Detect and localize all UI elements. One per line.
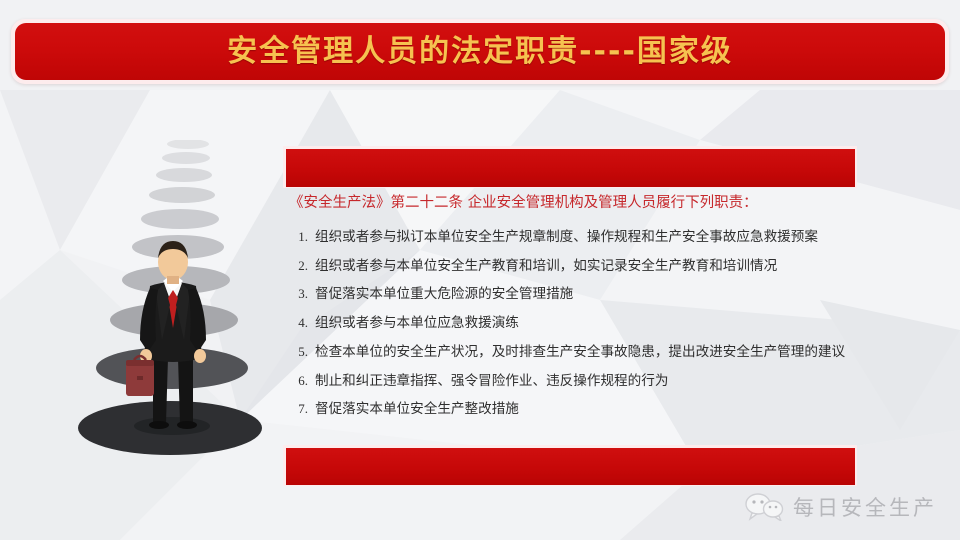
list-item-number: 7. (290, 400, 308, 419)
top-accent-bar (286, 149, 855, 187)
list-item-number: 1. (290, 228, 308, 247)
list-item: 3. 督促落实本单位重大危险源的安全管理措施 (287, 285, 867, 305)
list-item-number: 3. (290, 285, 308, 304)
list-item: 6. 制止和纠正违章指挥、强令冒险作业、违反操作规程的行为 (287, 372, 867, 392)
bottom-accent-bar (286, 448, 855, 485)
slide-canvas: 安全管理人员的法定职责----国家级 (0, 0, 960, 540)
list-item-number: 2. (290, 257, 308, 276)
list-item: 7. 督促落实本单位安全生产整改措施 (287, 400, 867, 420)
list-item: 4. 组织或者参与本单位应急救援演练 (287, 314, 867, 334)
list-item: 5. 检查本单位的安全生产状况，及时排查生产安全事故隐患，提出改进安全生产管理的… (287, 343, 867, 363)
list-item-text: 督促落实本单位重大危险源的安全管理措施 (315, 285, 867, 305)
page-title: 安全管理人员的法定职责----国家级 (227, 37, 733, 67)
list-item-text: 组织或者参与本单位应急救援演练 (315, 314, 867, 334)
wechat-icon (745, 493, 785, 521)
list-item-text: 制止和纠正违章指挥、强令冒险作业、违反操作规程的行为 (315, 372, 867, 392)
list-item-text: 检查本单位的安全生产状况，及时排查生产安全事故隐患，提出改进安全生产管理的建议 (315, 343, 867, 363)
list-item-text: 督促落实本单位安全生产整改措施 (315, 400, 867, 420)
list-item-text: 组织或者参与拟订本单位安全生产规章制度、操作规程和生产安全事故应急救援预案 (315, 228, 867, 248)
content-subtitle: 《安全生产法》第二十二条 企业安全管理机构及管理人员履行下列职责： (289, 193, 869, 215)
list-item-number: 5. (290, 343, 308, 362)
list-item: 1. 组织或者参与拟订本单位安全生产规章制度、操作规程和生产安全事故应急救援预案 (287, 228, 867, 248)
list-item-number: 4. (290, 314, 308, 333)
list-item: 2. 组织或者参与本单位安全生产教育和培训，如实记录安全生产教育和培训情况 (287, 257, 867, 277)
list-item-number: 6. (290, 372, 308, 391)
title-banner-frame: 安全管理人员的法定职责----国家级 (11, 19, 949, 84)
watermark: 每日安全生产 (745, 484, 950, 530)
duties-list: 1. 组织或者参与拟订本单位安全生产规章制度、操作规程和生产安全事故应急救援预案… (287, 228, 867, 429)
list-item-text: 组织或者参与本单位安全生产教育和培训，如实记录安全生产教育和培训情况 (315, 257, 867, 277)
watermark-text: 每日安全生产 (793, 492, 937, 522)
title-banner: 安全管理人员的法定职责----国家级 (15, 23, 945, 80)
